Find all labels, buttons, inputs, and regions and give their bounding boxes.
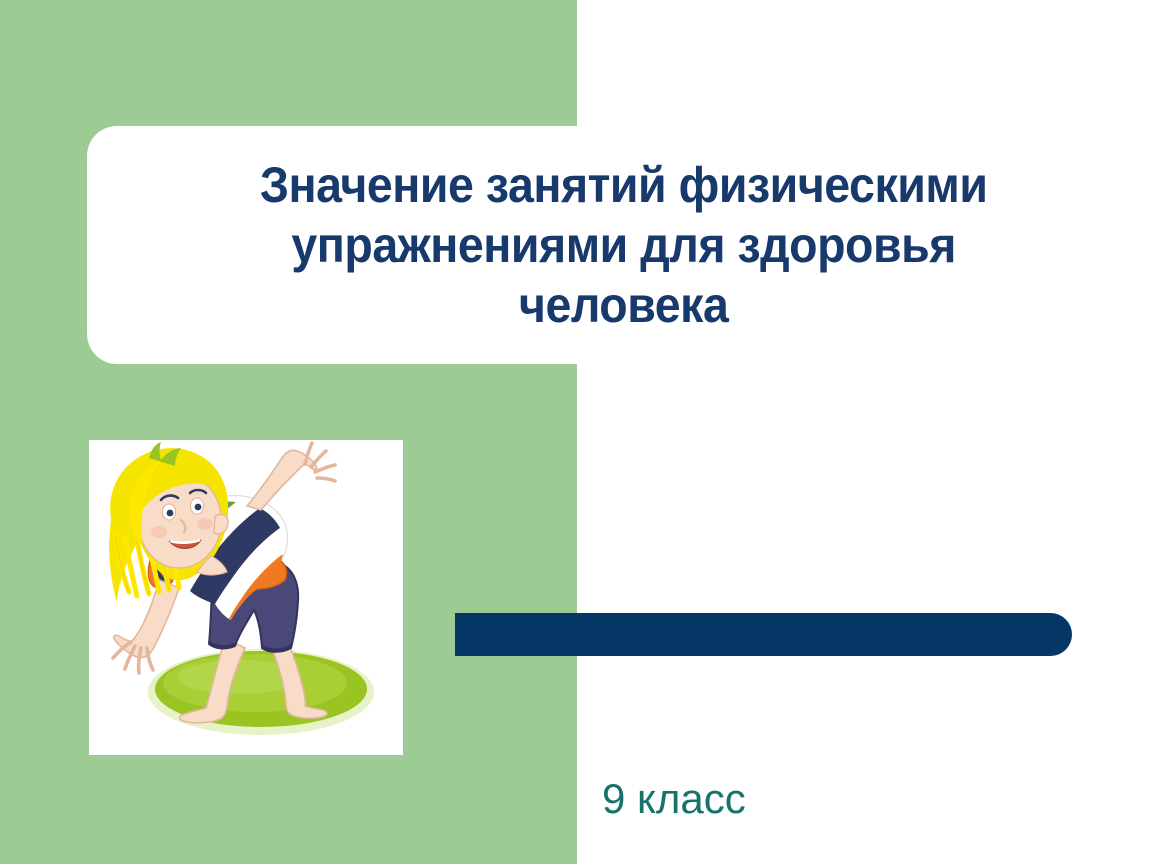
exercise-clipart-image <box>89 440 403 755</box>
presentation-slide: Значение занятий физическими упражнениям… <box>0 0 1150 864</box>
white-title-card: Значение занятий физическими упражнениям… <box>87 126 1150 364</box>
girl-stretching-exercise-icon <box>89 440 403 755</box>
slide-subtitle: 9 класс <box>602 775 1022 823</box>
slide-title: Значение занятий физическими упражнениям… <box>167 155 1069 335</box>
navy-accent-bar <box>455 613 1072 656</box>
